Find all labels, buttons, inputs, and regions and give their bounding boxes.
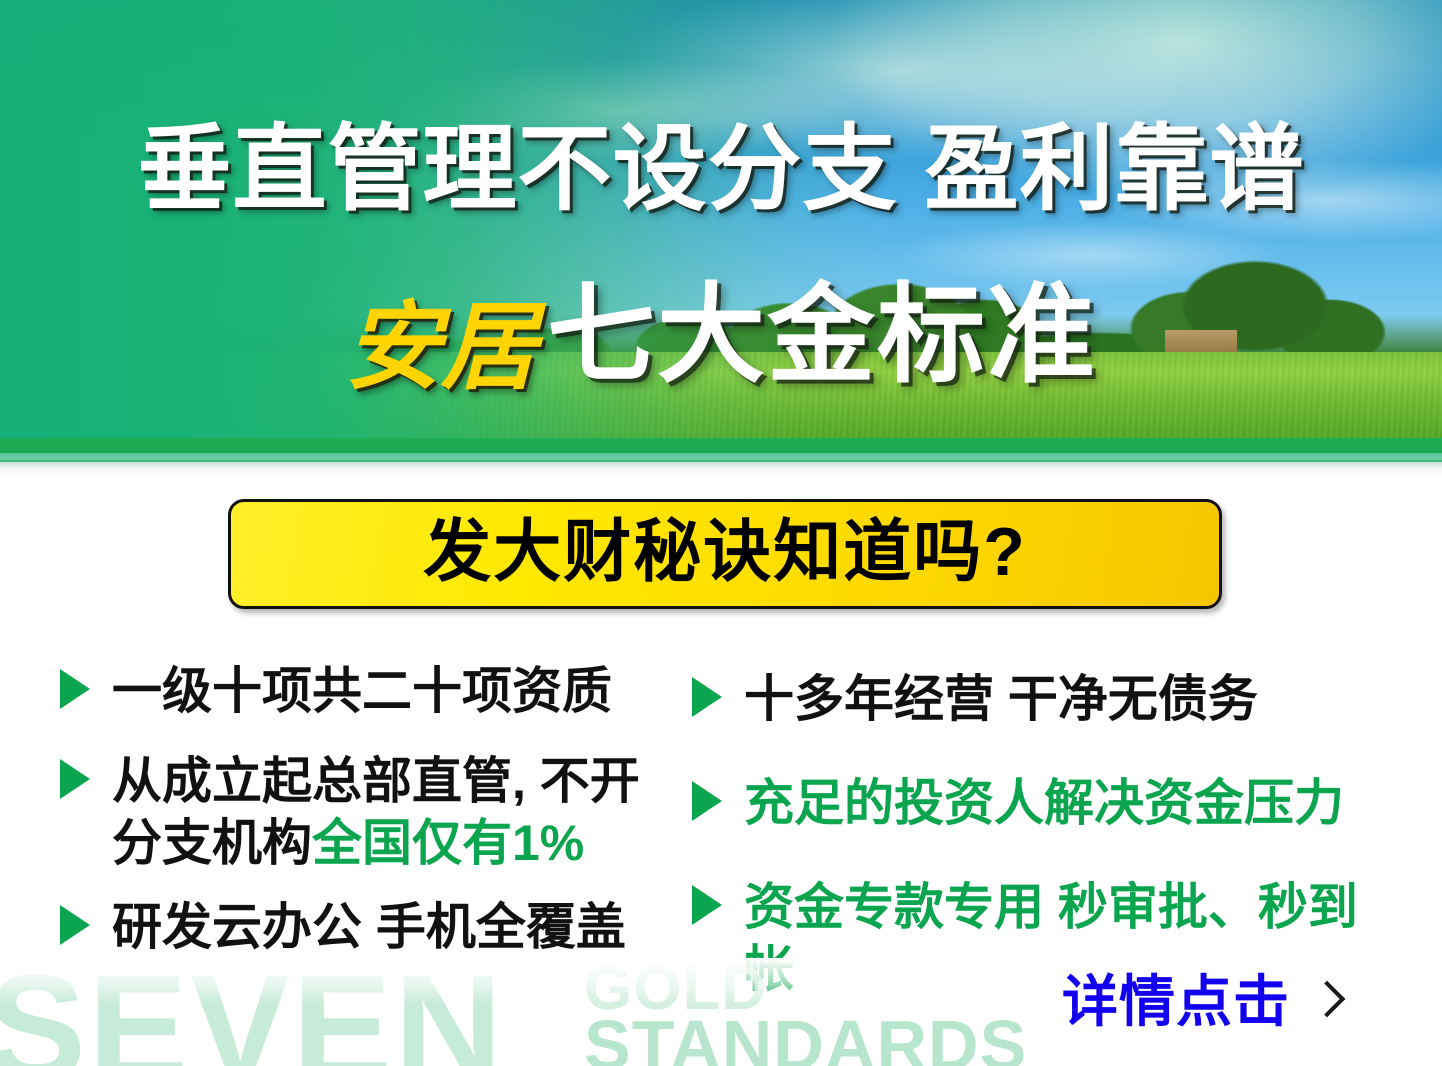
hero-headline-line1: 垂直管理不设分支 盈利靠谱 [0,113,1442,225]
details-cta-link[interactable]: 详情点击 [1062,972,1338,1032]
feature-item-qualifications: 一级十项共二十项资质 [60,660,680,722]
feature-column-left: 一级十项共二十项资质 从成立起总部直管, 不开 分支机构全国仅有1% 研发云办公… [60,660,680,982]
feature-item-qualifications-text: 一级十项共二十项资质 [112,660,680,722]
feature-item-ten-years-text: 十多年经营 干净无债务 [744,668,1392,730]
hero-bottom-strip-highlight [0,453,1442,462]
feature-columns: 一级十项共二十项资质 从成立起总部直管, 不开 分支机构全国仅有1% 研发云办公… [0,660,1442,1000]
hero-headline-line2-text: 七大金标准 [547,274,1097,395]
highlight-banner-text: 发大财秘诀知道吗? [423,516,1027,588]
ad-banner-page: 垂直管理不设分支 盈利靠谱 安居七大金标准 发大财秘诀知道吗? 一级十项共二十项… [0,0,1442,1066]
triangle-bullet-icon [692,885,722,925]
triangle-bullet-icon [692,677,722,717]
feature-item-headquarters-direct: 从成立起总部直管, 不开 分支机构全国仅有1% [60,750,680,874]
hero-headline-line2: 安居七大金标准 [0,272,1442,403]
feature-item-cloud-office: 研发云办公 手机全覆盖 [60,896,680,958]
feature-item-cloud-office-text: 研发云办公 手机全覆盖 [112,896,680,958]
hero-section: 垂直管理不设分支 盈利靠谱 安居七大金标准 [0,0,1442,462]
triangle-bullet-icon [60,669,90,709]
details-cta-label: 详情点击 [1062,972,1290,1032]
feature-item-ten-years: 十多年经营 干净无债务 [692,668,1392,730]
triangle-bullet-icon [60,905,90,945]
feature-item-headquarters-direct-highlight: 全国仅有1% [312,815,584,871]
feature-item-investors: 充足的投资人解决资金压力 [692,772,1392,834]
hero-drop-shadow [0,462,1442,476]
highlight-banner[interactable]: 发大财秘诀知道吗? [228,499,1222,609]
chevron-right-icon [1312,978,1338,1026]
triangle-bullet-icon [692,781,722,821]
triangle-bullet-icon [60,759,90,799]
brand-word: 安居 [345,285,537,411]
feature-item-headquarters-direct-text: 从成立起总部直管, 不开 分支机构全国仅有1% [112,750,680,874]
feature-item-investors-text: 充足的投资人解决资金压力 [744,772,1392,834]
